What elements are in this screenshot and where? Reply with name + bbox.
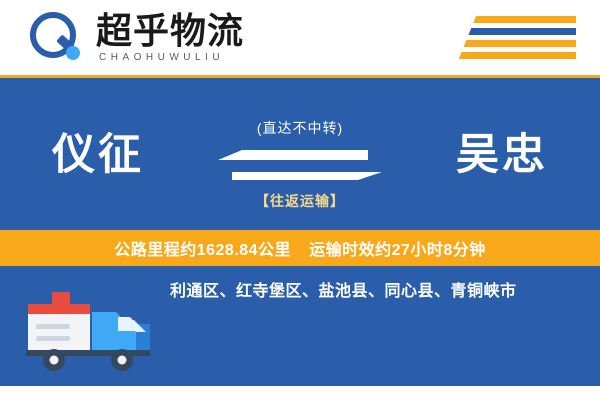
- info-bar: 公路里程约1628.84公里 运输时效约27小时8分钟: [0, 230, 600, 266]
- coverage-regions: 利通区、红寺堡区、盐池县、同心县、青铜峡市: [170, 280, 570, 304]
- origin-city: 仪征: [52, 120, 144, 182]
- company-pinyin: CHAOHUWULIU: [99, 52, 224, 63]
- distance-text: 公路里程约1628.84公里: [114, 236, 291, 260]
- logistics-route-banner: 超乎物流 CHAOHUWULIU (直达不中转) 仪征 吴忠 【往返运输】 公路…: [0, 0, 600, 400]
- double-arrow-icon: [218, 146, 382, 182]
- logo-dot: [66, 46, 80, 60]
- header: 超乎物流 CHAOHUWULIU: [0, 0, 600, 78]
- duration-text: 运输时效约27小时8分钟: [309, 236, 486, 260]
- stripes-cut: [456, 16, 480, 60]
- bottom-section: 利通区、红寺堡区、盐池县、同心县、青铜峡市: [0, 266, 600, 400]
- delivery-truck-icon: [26, 284, 156, 380]
- route-main: (直达不中转) 仪征 吴忠 【往返运输】: [0, 78, 600, 230]
- footer-bar: [0, 386, 600, 400]
- company-name: 超乎物流: [96, 11, 244, 51]
- roundtrip-note: 【往返运输】: [0, 191, 600, 211]
- destination-city: 吴忠: [456, 120, 548, 182]
- stripes-mask: [456, 16, 576, 60]
- circle-q-logo-icon: [30, 12, 82, 64]
